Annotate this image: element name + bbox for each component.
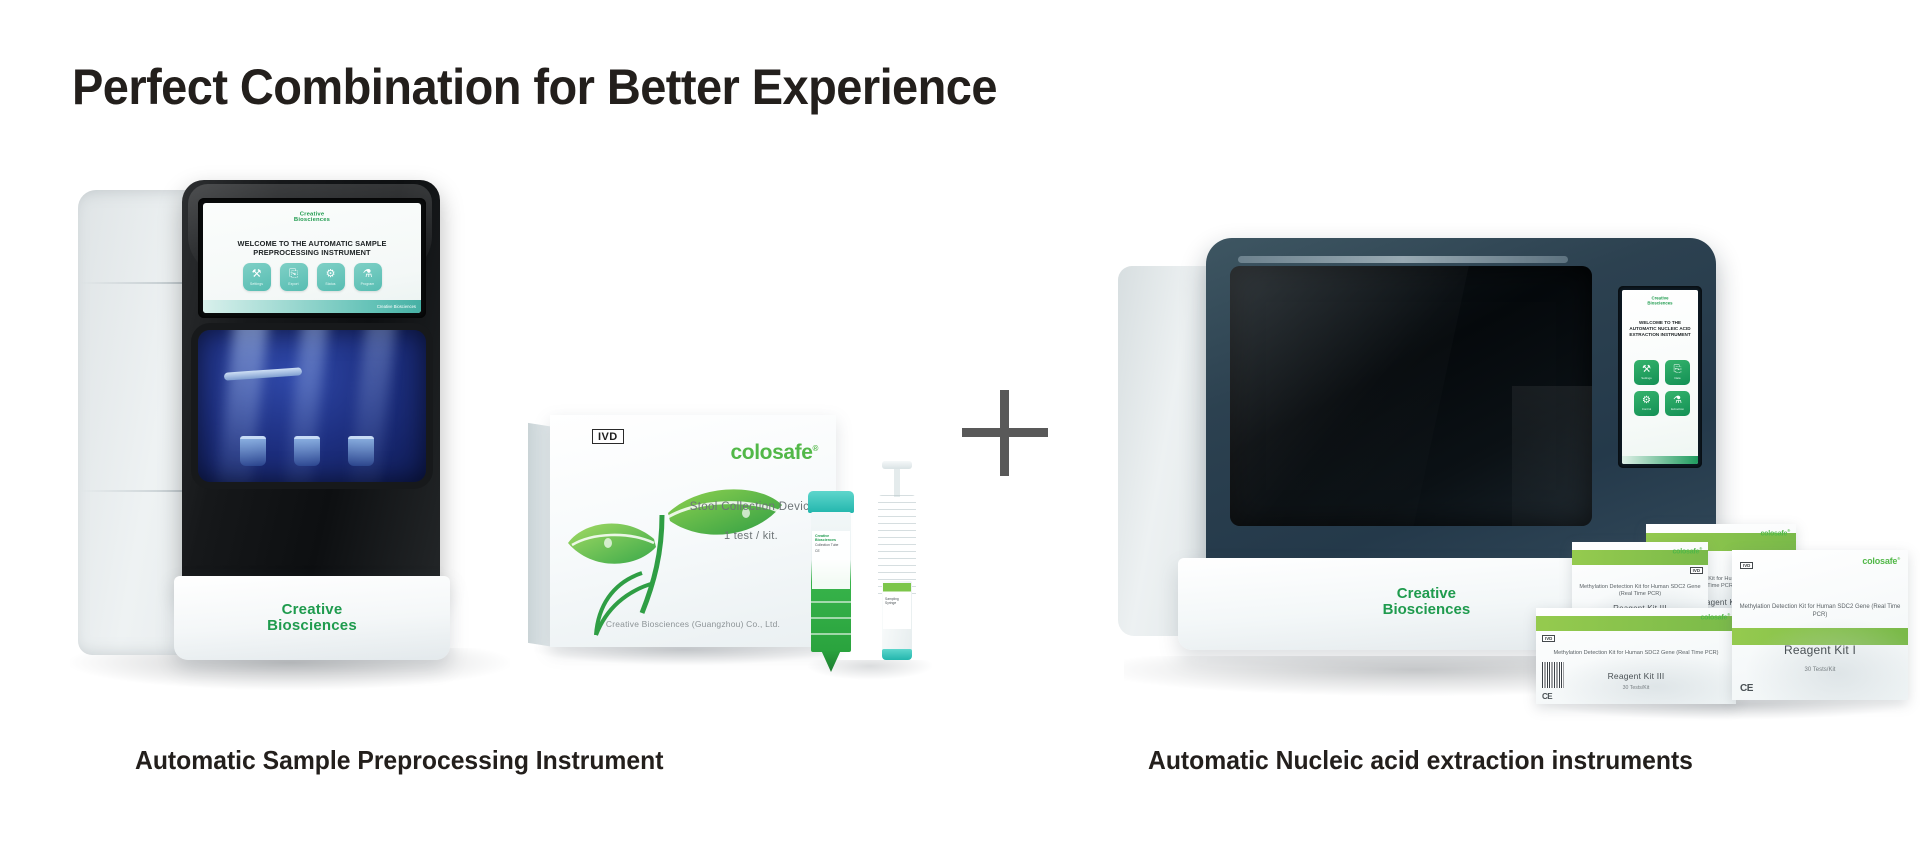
reagent-kit-box-bottom: colosafe® Methylation Detection Kit for … [1536, 608, 1736, 704]
plant-dna-illustration [550, 443, 790, 643]
screen-tile-settings[interactable]: ⚒ Settings [1634, 360, 1659, 385]
control-icon: ⚙ [1642, 396, 1651, 406]
screen-tile-row: ⚒ Settings ⎘ Export ⚙ Status ⚗ Program [203, 263, 421, 291]
caption-left-product: Automatic Sample Preprocessing Instrumen… [135, 745, 663, 776]
colosafe-wordmark: colosafe [1862, 556, 1897, 566]
brand-line1: Creative [1383, 586, 1471, 602]
marketing-banner: Perfect Combination for Better Experienc… [0, 0, 1920, 853]
screen-status-bar: Creative Biosciences [203, 300, 421, 313]
screen-brand-logo: Creative Biosciences [1647, 297, 1672, 306]
screen-tile-extraction[interactable]: ⚗ Extraction [1665, 391, 1690, 416]
tile-label: Settings [1641, 376, 1651, 380]
tools-icon: ⚒ [1642, 365, 1651, 375]
screen-tile-status[interactable]: ⚙ Status [317, 263, 345, 291]
box-front-face: IVD colosafe® Stool Collection Device 1 … [550, 415, 836, 647]
touchscreen-display[interactable]: Creative Biosciences WELCOME TO THE AUTO… [203, 203, 421, 313]
screen-brand-line2: Biosciences [294, 217, 330, 223]
sample-status-icon: ⚙ [326, 269, 336, 280]
collection-consumables: Creative Biosciences Collection Tube CE … [806, 455, 936, 685]
kit-description: Methylation Detection Kit for Human SDC2… [1542, 650, 1730, 657]
touchscreen-bezel: Creative Biosciences WELCOME TO THE AUTO… [198, 198, 426, 318]
tile-label: Data [1674, 376, 1680, 380]
product-preprocessing-instrument: Creative Biosciences WELCOME TO THE AUTO… [78, 180, 498, 692]
document-export-icon: ⎘ [289, 269, 298, 280]
chamber-sample-tube [294, 436, 320, 466]
screen-tile-data[interactable]: ⎘ Data [1665, 360, 1690, 385]
screen-status-text: Creative Biosciences [377, 304, 416, 309]
dna-extraction-icon: ⚗ [1673, 396, 1682, 406]
screen-tile-grid: ⚒ Settings ⎘ Data ⚙ Control ⚗ Extraction [1622, 360, 1698, 416]
ce-mark: CE [1740, 683, 1753, 694]
screen-welcome-text: WELCOME TO THE AUTOMATIC NUCLEIC ACID EX… [1625, 320, 1695, 338]
instrument-base-panel: Creative Biosciences [174, 576, 450, 660]
tile-label: Control [1642, 407, 1651, 411]
kit-product-name: Stool Collection Device [690, 501, 816, 513]
colosafe-logo: colosafe® [731, 441, 819, 465]
window-glass-reflection [1230, 266, 1471, 526]
brand-line1: Creative [267, 602, 357, 618]
syringe-rod [894, 469, 900, 497]
screen-status-bar [1622, 456, 1698, 464]
tube-graduation-line [811, 633, 851, 635]
tile-label: Status [325, 282, 335, 286]
product-stool-collection-kit-box: IVD colosafe® Stool Collection Device 1 … [528, 415, 838, 665]
window-glass-reflection [1512, 386, 1592, 526]
document-icon: ⎘ [1674, 365, 1682, 375]
kit-tests: 30 Tests/Kit [1732, 667, 1908, 673]
screen-tile-export[interactable]: ⎘ Export [280, 263, 308, 291]
chamber-sample-tube [240, 436, 266, 466]
tube-graduation-line [811, 617, 851, 619]
kit-name: Reagent Kit III [1536, 671, 1736, 681]
hood-handle[interactable] [1238, 256, 1568, 263]
plus-vertical-bar [1000, 390, 1009, 476]
kit-description: Methylation Detection Kit for Human SDC2… [1738, 604, 1902, 619]
colosafe-logo: colosafe® [1862, 556, 1900, 566]
registered-mark: ® [1727, 612, 1730, 617]
tile-label: Export [288, 282, 298, 286]
collection-tube: Creative Biosciences Collection Tube CE [808, 491, 854, 673]
flask-icon: ⚗ [363, 269, 373, 280]
tile-label: Extraction [1671, 407, 1684, 411]
caption-right-product: Automatic Nucleic acid extraction instru… [1148, 745, 1693, 776]
kit-tests: 30 Tests/Kit [1536, 685, 1736, 691]
syringe-label: Sampling Syringe [883, 583, 911, 629]
registered-mark: ® [1787, 528, 1790, 533]
kit-description: Methylation Detection Kit for Human SDC2… [1578, 584, 1702, 598]
screen-tile-settings[interactable]: ⚒ Settings [243, 263, 271, 291]
ivd-badge: IVD [592, 429, 624, 444]
brand-line2: Biosciences [1383, 602, 1471, 618]
tools-icon: ⚒ [252, 269, 262, 280]
kit-name: Reagent Kit I [1732, 643, 1908, 657]
colosafe-wordmark: colosafe [1672, 548, 1699, 555]
registered-mark: ® [813, 444, 819, 453]
screen-tile-program[interactable]: ⚗ Program [354, 263, 382, 291]
sampling-syringe: Sampling Syringe [870, 461, 924, 673]
colosafe-wordmark: colosafe [1700, 614, 1727, 621]
syringe-cap [882, 649, 912, 660]
tube-conical-tip [821, 650, 841, 672]
chamber-sample-tube [348, 436, 374, 466]
tube-brand: Creative Biosciences [812, 531, 850, 542]
instrument-viewing-window [1230, 266, 1592, 526]
tile-label: Settings [250, 282, 263, 286]
screen-brand-logo: Creative Biosciences [294, 211, 330, 223]
colosafe-wordmark: colosafe [1760, 530, 1787, 537]
tile-label: Program [361, 282, 375, 286]
tube-label: Creative Biosciences Collection Tube CE [812, 531, 850, 589]
colosafe-logo: colosafe® [1760, 528, 1790, 537]
colosafe-wordmark: colosafe [731, 441, 813, 464]
syringe-product-name: Sampling Syringe [883, 583, 911, 605]
screen-welcome-text: WELCOME TO THE AUTOMATIC SAMPLE PREPROCE… [209, 239, 415, 258]
instrument-brand-logo: Creative Biosciences [1383, 586, 1471, 618]
tube-cap [808, 491, 854, 513]
barcode [1542, 662, 1564, 688]
tube-ce-mark: CE [812, 548, 850, 554]
page-title: Perfect Combination for Better Experienc… [72, 58, 997, 116]
instrument-brand-logo: Creative Biosciences [267, 602, 357, 634]
reagent-kit-box-front: colosafe® Methylation Detection Kit for … [1732, 550, 1908, 700]
plus-separator-icon [962, 390, 1048, 476]
touchscreen-display[interactable]: Creative Biosciences WELCOME TO THE AUTO… [1622, 290, 1698, 464]
brand-line2: Biosciences [267, 618, 357, 634]
ivd-badge: IVD [1740, 562, 1753, 569]
tube-graduation-line [811, 601, 851, 603]
kit-manufacturer: Creative Biosciences (Guangzhou) Co., Lt… [550, 619, 836, 629]
screen-tile-control[interactable]: ⚙ Control [1634, 391, 1659, 416]
screen-brand-line2: Biosciences [1647, 302, 1672, 306]
ce-mark: CE [1542, 692, 1552, 701]
kit-quantity: 1 test / kit. [724, 530, 778, 542]
registered-mark: ® [1897, 556, 1900, 561]
ivd-badge: IVD [1690, 567, 1703, 574]
sample-chamber [198, 330, 426, 482]
syringe-plunger-head [882, 461, 912, 469]
registered-mark: ® [1699, 546, 1702, 551]
colosafe-logo: colosafe® [1700, 612, 1730, 621]
ivd-badge: IVD [1542, 635, 1555, 642]
colosafe-logo: colosafe® [1672, 546, 1702, 555]
touchscreen-bezel: Creative Biosciences WELCOME TO THE AUTO… [1618, 286, 1702, 468]
product-reagent-kit-boxes: colosafe® Methylation Detection Kit for … [1536, 520, 1920, 720]
